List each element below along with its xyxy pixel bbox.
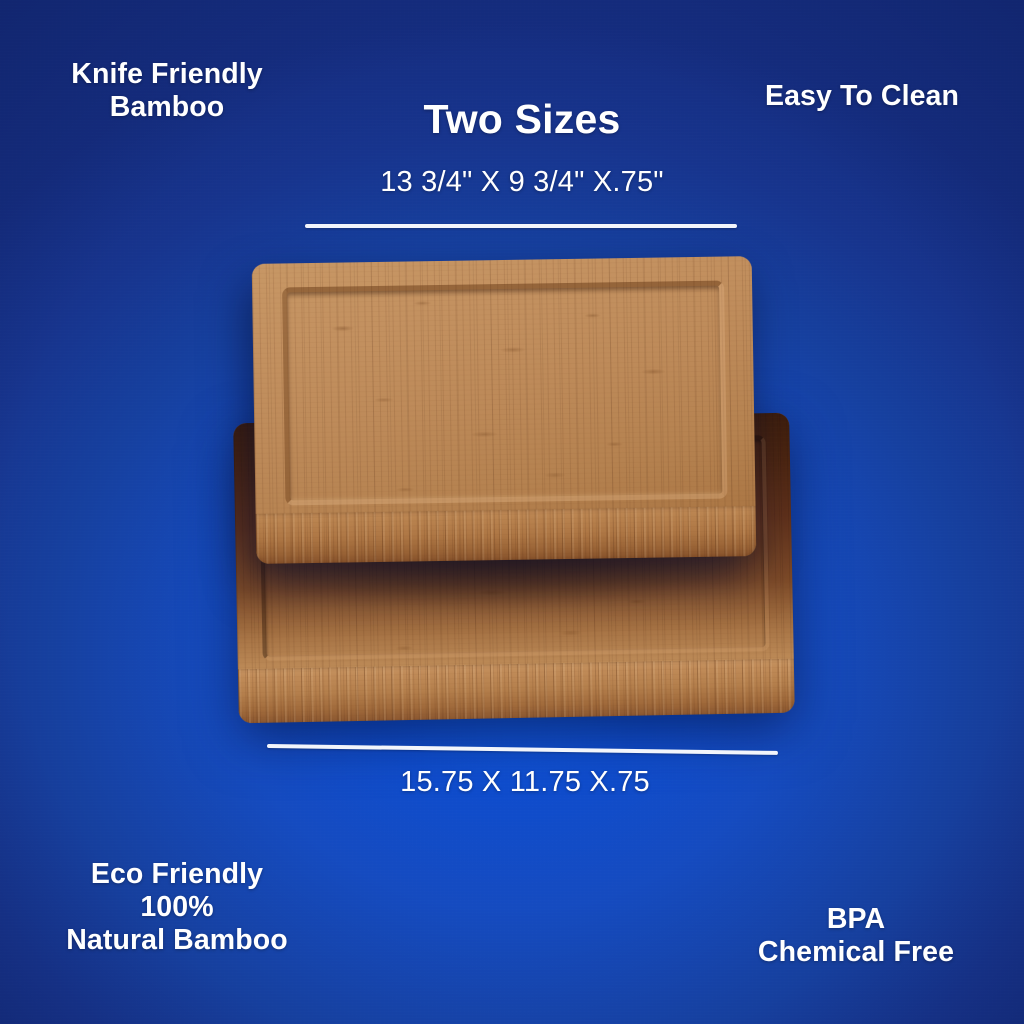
- feature-bpa-line2: Chemical Free: [700, 936, 1012, 969]
- feature-knife-friendly: Knife Friendly Bamboo: [22, 58, 312, 124]
- feature-knife-friendly-line2: Bamboo: [22, 91, 312, 124]
- feature-eco-friendly-line3: Natural Bamboo: [22, 924, 332, 957]
- feature-eco-friendly-line2: 100%: [22, 891, 332, 924]
- feature-bpa-line1: BPA: [700, 903, 1012, 936]
- large-board-dimension-label: 15.75 X 11.75 X.75: [270, 766, 780, 800]
- small-board-dimension-label: 13 3/4" X 9 3/4" X.75": [302, 166, 742, 200]
- page-title: Two Sizes: [312, 96, 732, 144]
- feature-eco-friendly: Eco Friendly 100% Natural Bamboo: [22, 858, 332, 957]
- feature-knife-friendly-line1: Knife Friendly: [22, 58, 312, 91]
- feature-easy-to-clean: Easy To Clean: [712, 80, 1012, 113]
- small-board-dimension-rule: [305, 224, 737, 228]
- feature-eco-friendly-line1: Eco Friendly: [22, 858, 332, 891]
- feature-bpa-chemical-free: BPA Chemical Free: [700, 903, 1012, 969]
